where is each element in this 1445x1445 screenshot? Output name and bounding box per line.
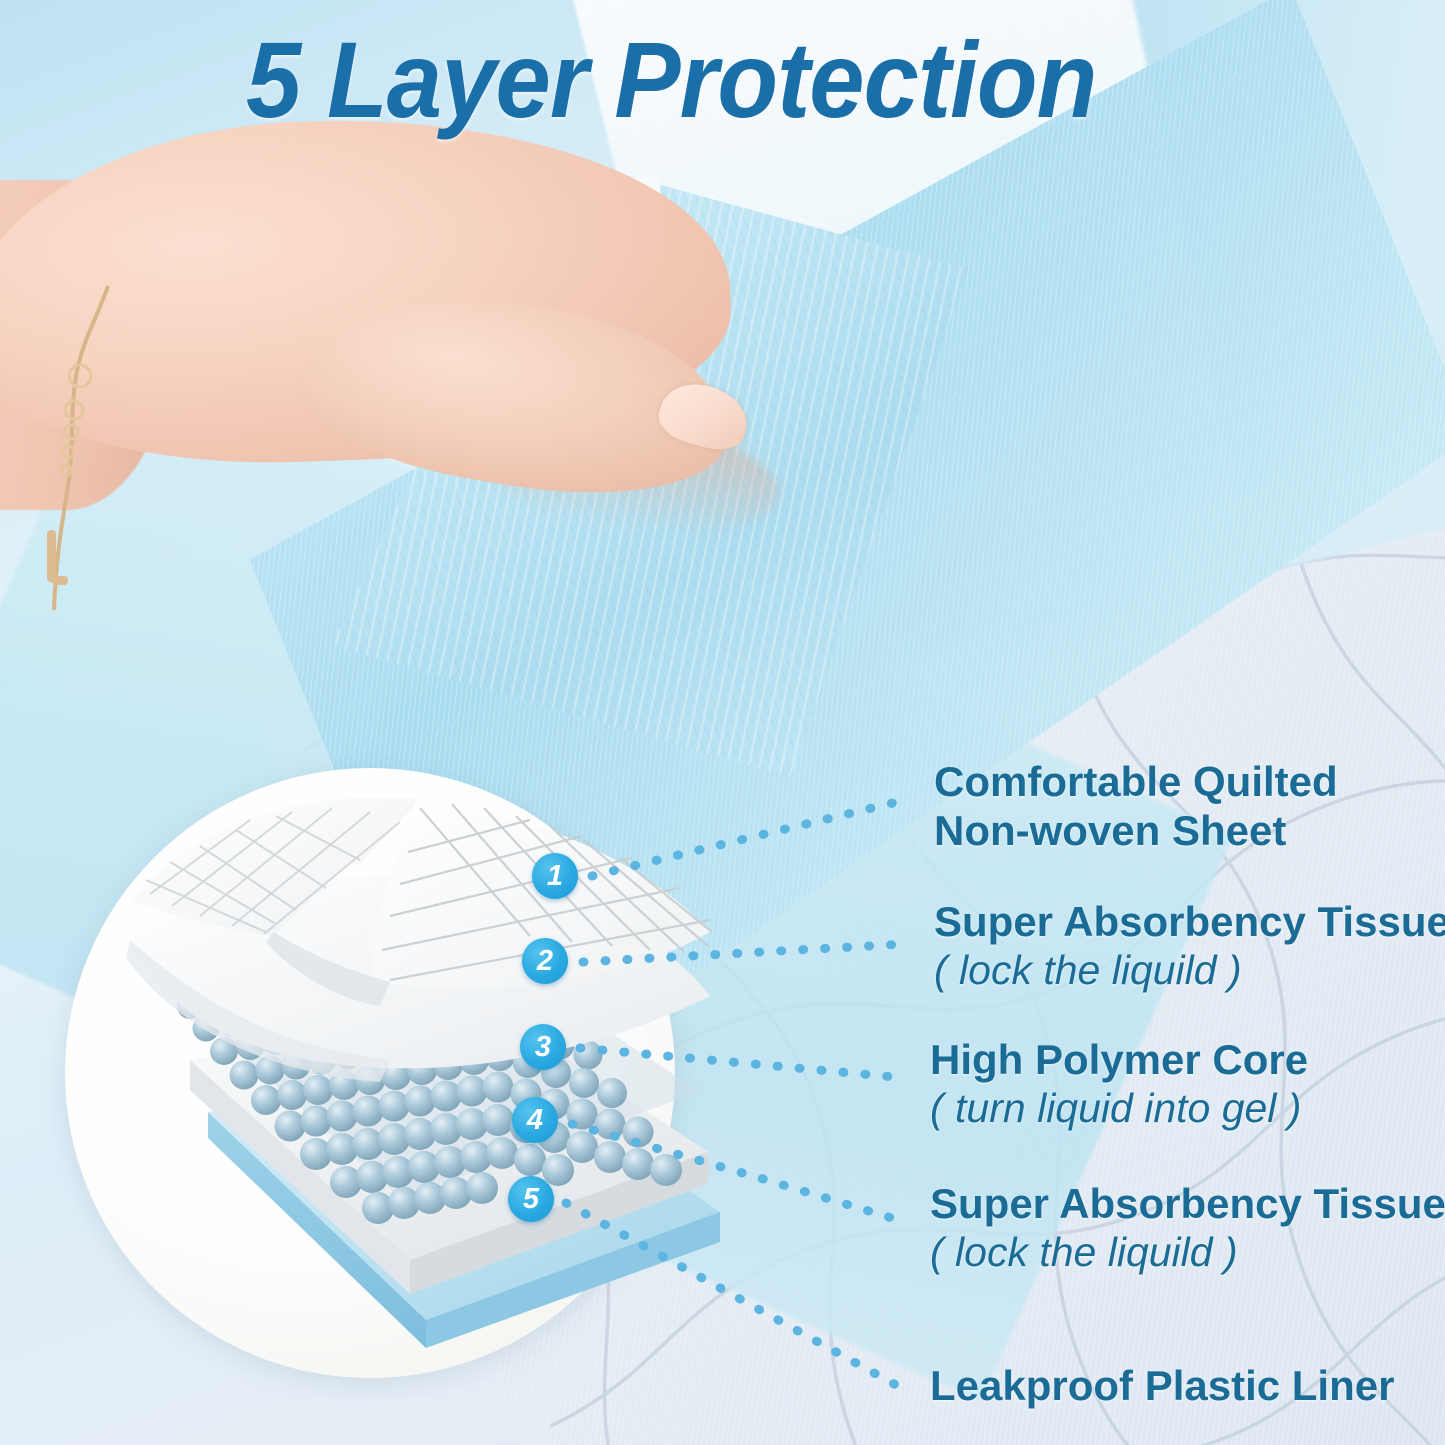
layer-label-5-line1: Leakproof Plastic Liner <box>930 1362 1394 1411</box>
layer-label-1-line1: Comfortable Quilted <box>934 758 1338 807</box>
gold-chain-bracelet-icon <box>30 280 150 620</box>
five-layer-cutaway <box>60 760 720 1420</box>
layer-label-1-line2: Non-woven Sheet <box>934 807 1338 856</box>
infographic-canvas: 5 Layer Protection <box>0 0 1445 1445</box>
layer-badge-5: 5 <box>508 1176 554 1222</box>
layer-label-3-line1: High Polymer Core <box>930 1036 1308 1085</box>
layer-label-3-line2: ( turn liquid into gel ) <box>930 1085 1308 1133</box>
page-title: 5 Layer Protection <box>246 26 1096 134</box>
layer-label-5: Leakproof Plastic Liner <box>930 1362 1394 1411</box>
layer-badge-4: 4 <box>512 1097 558 1143</box>
layer-label-4: Super Absorbency Tissue ( lock the liqui… <box>930 1180 1445 1276</box>
layer-label-4-line1: Super Absorbency Tissue <box>930 1180 1445 1229</box>
layer-badge-1: 1 <box>532 853 578 899</box>
layer-label-3: High Polymer Core ( turn liquid into gel… <box>930 1036 1308 1132</box>
layer-label-1: Comfortable Quilted Non-woven Sheet <box>934 758 1338 855</box>
layer-label-2-line2: ( lock the liquild ) <box>934 947 1445 995</box>
layer-label-2-line1: Super Absorbency Tissue <box>934 898 1445 947</box>
layer-label-4-line2: ( lock the liquild ) <box>930 1229 1445 1277</box>
layer-badge-2: 2 <box>522 938 568 984</box>
layer-badge-3: 3 <box>520 1024 566 1070</box>
layer-label-2: Super Absorbency Tissue ( lock the liqui… <box>934 898 1445 994</box>
hand-holding-pad <box>0 120 800 540</box>
